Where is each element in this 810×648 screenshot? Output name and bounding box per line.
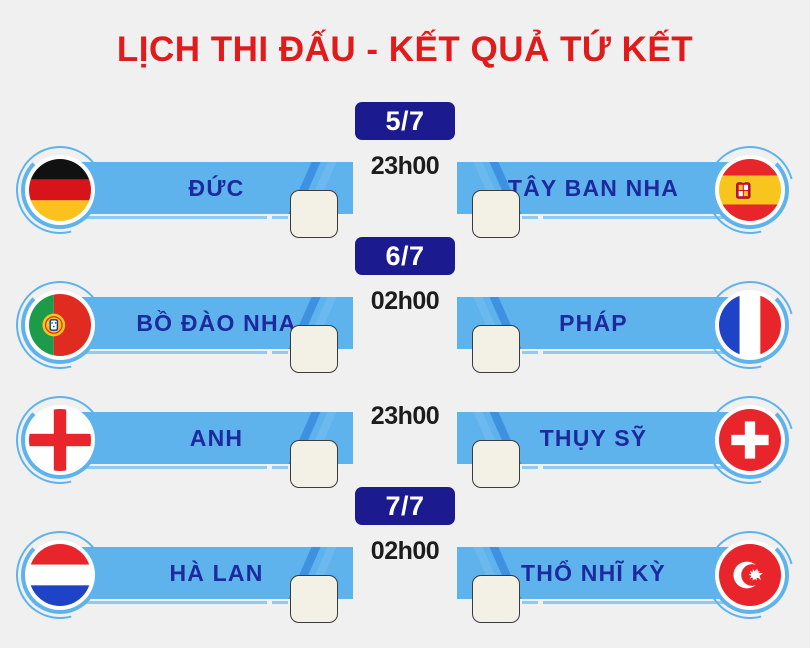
match-date-badge: 7/7 <box>355 487 455 525</box>
england-flag-icon <box>29 409 91 471</box>
france-flag-icon <box>719 294 781 356</box>
portugal-flag-icon <box>29 294 91 356</box>
banner-dash <box>522 351 538 354</box>
flag-emblem <box>16 281 104 369</box>
score-box[interactable] <box>472 575 520 623</box>
match-kickoff-time: 23h00 <box>355 402 455 431</box>
flag-emblem <box>706 396 794 484</box>
score-box[interactable] <box>472 440 520 488</box>
banner-dash <box>522 466 538 469</box>
team-side-home: HÀ LAN <box>0 525 405 625</box>
team-side-away: PHÁP <box>405 275 810 375</box>
turkey-flag-icon <box>719 544 781 606</box>
team-side-away: THỤY SỸ <box>405 390 810 490</box>
match-kickoff-time: 23h00 <box>355 152 455 181</box>
banner-dash <box>272 216 288 219</box>
score-box[interactable] <box>290 575 338 623</box>
netherlands-flag-icon <box>29 544 91 606</box>
flag-emblem <box>706 281 794 369</box>
team-side-home: ĐỨC <box>0 140 405 240</box>
score-box[interactable] <box>472 325 520 373</box>
flag-emblem <box>706 146 794 234</box>
page-title: LỊCH THI ĐẤU - KẾT QUẢ TỨ KẾT <box>0 30 810 70</box>
match-date-badge: 5/7 <box>355 102 455 140</box>
match-kickoff-time: 02h00 <box>355 287 455 316</box>
banner-dash <box>272 351 288 354</box>
match-date-badge: 6/7 <box>355 237 455 275</box>
score-box[interactable] <box>290 325 338 373</box>
banner-dash <box>272 466 288 469</box>
germany-flag-icon <box>29 159 91 221</box>
banner-dash <box>272 601 288 604</box>
spain-flag-icon <box>719 159 781 221</box>
flag-emblem <box>706 531 794 619</box>
team-side-home: ANH <box>0 390 405 490</box>
team-side-away: TÂY BAN NHA <box>405 140 810 240</box>
match-kickoff-time: 02h00 <box>355 537 455 566</box>
switzerland-flag-icon <box>719 409 781 471</box>
score-box[interactable] <box>290 190 338 238</box>
fixtures-board: LỊCH THI ĐẤU - KẾT QUẢ TỨ KẾT ĐỨC TÂY BA… <box>0 0 810 648</box>
flag-emblem <box>16 396 104 484</box>
banner-dash <box>522 601 538 604</box>
team-side-away: THỔ NHĨ KỲ <box>405 525 810 625</box>
banner-dash <box>522 216 538 219</box>
score-box[interactable] <box>290 440 338 488</box>
score-box[interactable] <box>472 190 520 238</box>
flag-emblem <box>16 531 104 619</box>
flag-emblem <box>16 146 104 234</box>
team-side-home: BỒ ĐÀO NHA <box>0 275 405 375</box>
